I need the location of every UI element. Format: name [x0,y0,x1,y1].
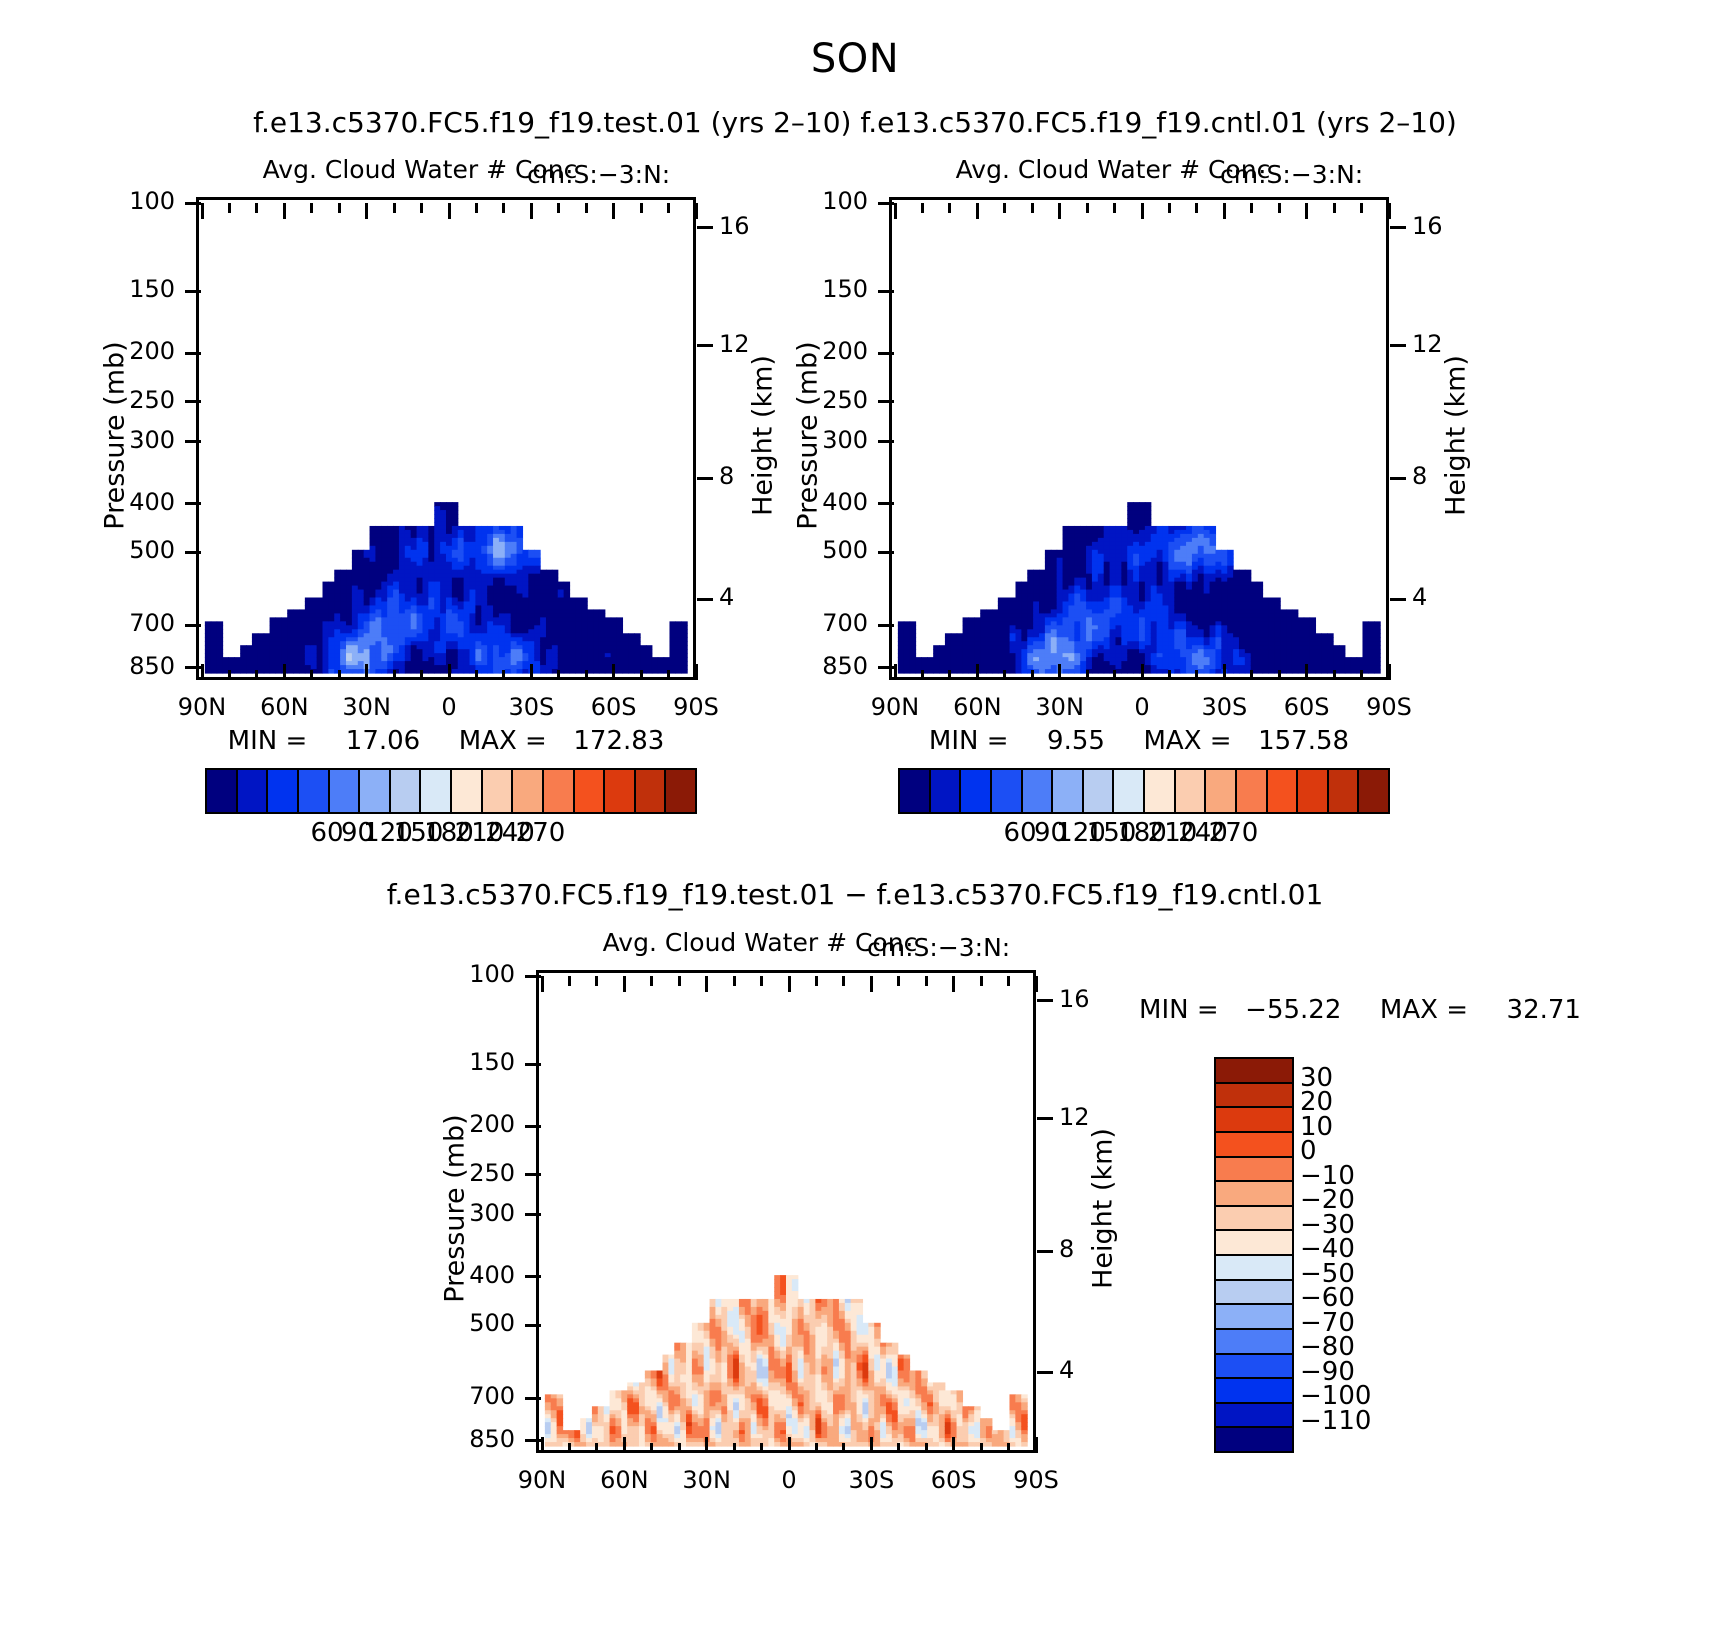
colorbar-swatch[interactable] [1216,1330,1292,1355]
y-tick-mark [525,1213,541,1216]
x-tick-mark [595,976,598,986]
colorbar-swatch[interactable] [1216,1404,1292,1429]
panel-units-cntl: cm:S:−3:N: [1220,160,1363,189]
colorbar-swatch[interactable] [238,770,269,812]
x-tick-mark [1305,664,1308,680]
colorbar-swatch[interactable] [1084,770,1115,812]
y-tick-label: 400 [79,488,175,516]
panel-units-diff: cm:S:−3:N: [867,933,1010,962]
y-tick-mark [185,202,201,205]
y-tick-mark [525,1324,541,1327]
x-tick-mark [201,203,204,219]
colorbar-swatch[interactable] [1114,770,1145,812]
x-tick-mark [948,670,951,680]
y-tick-label: 400 [419,1261,515,1289]
x-tick-mark [448,664,451,680]
y-tick-mark [878,400,894,403]
x-tick-mark [1388,203,1391,219]
y-tick-label: 500 [419,1309,515,1337]
x-tick-mark [1360,670,1363,680]
y-tick-label: 150 [79,275,175,303]
plot-area-cntl [889,197,1389,680]
y-tick-mark [878,502,894,505]
x-tick-mark [1333,203,1336,213]
max-label-cntl: MAX = [1143,726,1231,756]
y-tick-label: 850 [772,652,868,680]
y-tick-label: 200 [772,337,868,365]
x-tick-mark [788,976,791,992]
y2-tick-mark [1037,1117,1053,1120]
y-tick-mark [525,1397,541,1400]
x-tick-mark [952,1437,955,1453]
y2-tick-mark [1037,1250,1053,1253]
y2-tick-label: 4 [719,583,779,611]
plot-area-diff [536,970,1036,1453]
y-tick-label: 700 [419,1382,515,1410]
x-tick-mark [842,976,845,986]
colorbar-tick-label: −110 [1300,1406,1390,1436]
y-tick-mark [185,290,201,293]
y-tick-label: 700 [772,609,868,637]
x-tick-mark [338,670,341,680]
colorbar-swatch[interactable] [1053,770,1084,812]
x-tick-mark [1141,203,1144,219]
colorbar-tick-label: 270 [491,818,591,848]
x-tick-mark [310,203,313,213]
x-tick-mark [705,976,708,992]
x-tick-mark [502,203,505,213]
x-tick-mark [1113,670,1116,680]
x-tick-mark [705,1437,708,1453]
x-tick-label: 90S [986,1466,1086,1494]
x-tick-mark [1195,203,1198,213]
y-tick-mark [185,551,201,554]
max-label-diff: MAX = [1380,995,1468,1025]
x-tick-mark [201,664,204,680]
y-tick-label: 300 [79,426,175,454]
min-label-cntl: MIN = [929,726,1009,756]
colorbar-swatch[interactable] [452,770,483,812]
colorbar-cntl[interactable] [898,768,1390,814]
x-tick-mark [1250,670,1253,680]
x-tick-mark [980,976,983,986]
y2-tick-mark [697,344,713,347]
y-tick-label: 500 [772,536,868,564]
x-tick-mark [1035,976,1038,992]
x-tick-mark [338,203,341,213]
x-tick-mark [788,1437,791,1453]
x-tick-mark [255,670,258,680]
panel-units-test: cm:S:−3:N: [527,160,670,189]
x-tick-mark [420,203,423,213]
x-tick-mark [921,670,924,680]
x-tick-mark [1007,976,1010,986]
x-tick-mark [541,976,544,992]
diff-case-line: f.e13.c5370.FC5.f19_f19.test.01 − f.e13.… [0,878,1710,911]
minmax-test: MIN = 17.06 MAX = 172.83 [196,726,696,756]
x-tick-mark [1031,670,1034,680]
x-tick-mark [475,203,478,213]
y-tick-mark [185,502,201,505]
x-tick-mark [475,670,478,680]
colorbar-swatch[interactable] [483,770,514,812]
y2-tick-label: 12 [1412,330,1472,358]
x-tick-mark [1031,203,1034,213]
contour-field-cntl [892,200,1386,677]
x-tick-label: 90S [1339,693,1439,721]
x-tick-mark [925,976,928,986]
y-tick-label: 300 [772,426,868,454]
y-tick-label: 100 [419,960,515,988]
colorbar-swatch[interactable] [513,770,544,812]
colorbar-swatch[interactable] [1216,1182,1292,1207]
y-tick-label: 100 [79,187,175,215]
min-label-diff: MIN = [1139,995,1219,1025]
y2-tick-label: 4 [1412,583,1472,611]
colorbar-swatch[interactable] [1216,1158,1292,1183]
y-tick-mark [878,290,894,293]
x-tick-mark [894,664,897,680]
colorbar-swatch[interactable] [330,770,361,812]
colorbar-swatch[interactable] [360,770,391,812]
x-tick-mark [1305,203,1308,219]
y-tick-mark [525,1063,541,1066]
x-tick-mark [1168,203,1171,213]
x-tick-mark [530,664,533,680]
x-tick-mark [1035,1437,1038,1453]
x-tick-mark [1250,203,1253,213]
x-tick-mark [733,1443,736,1453]
colorbar-swatch[interactable] [1216,1207,1292,1232]
x-tick-mark [1195,670,1198,680]
min-value-cntl: 9.55 [1047,726,1105,756]
x-tick-mark [557,203,560,213]
x-tick-mark [695,664,698,680]
y-tick-mark [185,624,201,627]
colorbar-diff[interactable] [1214,1057,1294,1453]
x-tick-mark [623,976,626,992]
colorbar-swatch[interactable] [1216,1231,1292,1256]
x-tick-mark [568,1443,571,1453]
y-tick-label: 400 [772,488,868,516]
colorbar-swatch[interactable] [1216,1059,1292,1084]
y-tick-mark [185,400,201,403]
y-tick-mark [185,440,201,443]
x-tick-mark [760,976,763,986]
x-tick-mark [980,1443,983,1453]
x-tick-mark [310,670,313,680]
y-tick-mark [878,624,894,627]
y-tick-mark [525,1439,541,1442]
x-tick-mark [640,670,643,680]
x-tick-mark [925,1443,928,1453]
x-tick-mark [952,976,955,992]
x-tick-mark [760,1443,763,1453]
y-tick-label: 250 [772,386,868,414]
y-tick-label: 700 [79,609,175,637]
y-tick-label: 100 [772,187,868,215]
x-tick-mark [1086,670,1089,680]
x-tick-mark [1058,203,1061,219]
colorbar-swatch[interactable] [1216,1355,1292,1380]
x-tick-mark [976,203,979,219]
y2-tick-mark [1390,477,1406,480]
x-tick-mark [815,1443,818,1453]
x-tick-mark [815,976,818,986]
colorbar-swatch[interactable] [1023,770,1054,812]
y2-tick-mark [1037,1371,1053,1374]
colorbar-swatch[interactable] [268,770,299,812]
x-tick-mark [667,203,670,213]
x-tick-mark [1278,203,1281,213]
y-tick-label: 200 [79,337,175,365]
colorbar-swatch[interactable] [1216,1305,1292,1330]
colorbar-swatch[interactable] [544,770,575,812]
y-tick-mark [185,352,201,355]
y-tick-label: 250 [79,386,175,414]
x-tick-mark [557,670,560,680]
colorbar-swatch[interactable] [992,770,1023,812]
x-tick-mark [948,203,951,213]
colorbar-swatch[interactable] [1216,1281,1292,1306]
colorbar-swatch[interactable] [1216,1084,1292,1109]
colorbar-swatch[interactable] [636,770,667,812]
x-tick-mark [585,203,588,213]
y-tick-mark [878,352,894,355]
x-tick-mark [842,1443,845,1453]
contour-field-diff [539,973,1033,1450]
max-value-cntl: 157.58 [1258,726,1349,756]
x-tick-mark [255,203,258,213]
x-tick-mark [1003,203,1006,213]
y-tick-label: 150 [419,1048,515,1076]
y-tick-mark [878,202,894,205]
x-tick-mark [921,203,924,213]
x-tick-mark [678,976,681,986]
minmax-diff: MIN = −55.22 MAX = 32.71 [1080,995,1640,1025]
y2-tick-mark [1037,999,1053,1002]
colorbar-swatch[interactable] [1145,770,1176,812]
y2-tick-mark [1390,226,1406,229]
y2-tick-label: 8 [1412,462,1472,490]
x-tick-mark [1223,203,1226,219]
colorbar-swatch[interactable] [207,770,238,812]
x-tick-mark [502,670,505,680]
colorbar-swatch[interactable] [900,770,931,812]
x-tick-mark [365,203,368,219]
x-tick-mark [640,203,643,213]
colorbar-swatch[interactable] [299,770,330,812]
colorbar-swatch[interactable] [421,770,452,812]
x-tick-mark [393,203,396,213]
y2-tick-label: 8 [1059,1235,1119,1263]
y2-tick-label: 16 [719,212,779,240]
colorbar-swatch[interactable] [1298,770,1329,812]
y-tick-mark [185,666,201,669]
y2-tick-mark [1390,344,1406,347]
y-tick-label: 200 [419,1110,515,1138]
y-tick-label: 850 [79,652,175,680]
y-tick-mark [878,551,894,554]
colorbar-swatch[interactable] [391,770,422,812]
y-tick-mark [525,1125,541,1128]
x-tick-mark [228,203,231,213]
x-tick-mark [678,1443,681,1453]
x-tick-mark [897,976,900,986]
colorbar-swatch[interactable] [575,770,606,812]
colorbar-swatch[interactable] [666,770,695,812]
x-tick-mark [585,670,588,680]
colorbar-swatch[interactable] [961,770,992,812]
x-tick-mark [870,1437,873,1453]
colorbar-swatch[interactable] [605,770,636,812]
min-value-test: 17.06 [346,726,420,756]
y2-tick-mark [697,477,713,480]
colorbar-swatch[interactable] [1216,1108,1292,1133]
y2-tick-mark [1390,598,1406,601]
x-tick-mark [733,976,736,986]
x-tick-label: 90S [646,693,746,721]
season-title: SON [0,36,1710,82]
x-tick-mark [1388,664,1391,680]
y-tick-mark [878,440,894,443]
x-tick-mark [530,203,533,219]
min-label-test: MIN = [228,726,308,756]
colorbar-test[interactable] [205,768,697,814]
x-tick-mark [1223,664,1226,680]
colorbar-swatch[interactable] [1176,770,1207,812]
colorbar-swatch[interactable] [1216,1256,1292,1281]
max-value-diff: 32.71 [1507,995,1581,1025]
x-tick-mark [612,664,615,680]
colorbar-swatch[interactable] [931,770,962,812]
colorbar-swatch[interactable] [1206,770,1237,812]
x-tick-mark [541,1437,544,1453]
y-tick-mark [525,1173,541,1176]
y-tick-mark [525,1275,541,1278]
colorbar-swatch[interactable] [1329,770,1360,812]
x-tick-mark [650,976,653,986]
case-names-line: f.e13.c5370.FC5.f19_f19.test.01 (yrs 2–1… [0,106,1710,139]
colorbar-swatch[interactable] [1268,770,1299,812]
colorbar-swatch[interactable] [1216,1379,1292,1404]
x-tick-mark [894,203,897,219]
x-tick-mark [1168,670,1171,680]
x-tick-mark [1360,203,1363,213]
min-value-diff: −55.22 [1245,995,1341,1025]
x-tick-mark [623,1437,626,1453]
colorbar-swatch[interactable] [1359,770,1388,812]
y2-tick-label: 12 [1059,1103,1119,1131]
plot-area-test [196,197,696,680]
y-tick-mark [525,975,541,978]
x-tick-mark [1003,670,1006,680]
y-tick-mark [878,666,894,669]
x-tick-mark [448,203,451,219]
colorbar-swatch[interactable] [1216,1428,1292,1451]
x-tick-mark [695,203,698,219]
x-tick-mark [393,670,396,680]
y-tick-label: 150 [772,275,868,303]
y2-tick-mark [697,598,713,601]
x-tick-mark [1113,203,1116,213]
x-tick-mark [228,670,231,680]
x-tick-mark [1278,670,1281,680]
x-tick-mark [283,203,286,219]
y-tick-label: 850 [419,1425,515,1453]
x-tick-mark [1086,203,1089,213]
max-label-test: MAX = [459,726,547,756]
x-tick-mark [976,664,979,680]
y2-tick-label: 8 [719,462,779,490]
x-tick-mark [568,976,571,986]
y2-tick-label: 12 [719,330,779,358]
y2-tick-mark [697,226,713,229]
colorbar-tick-label: 270 [1184,818,1284,848]
y-tick-label: 300 [419,1199,515,1227]
y2-tick-label: 16 [1412,212,1472,240]
x-tick-mark [650,1443,653,1453]
x-tick-mark [420,670,423,680]
x-tick-mark [897,1443,900,1453]
colorbar-swatch[interactable] [1237,770,1268,812]
x-tick-mark [612,203,615,219]
y2-tick-label: 4 [1059,1356,1119,1384]
x-tick-mark [870,976,873,992]
x-tick-mark [1058,664,1061,680]
colorbar-swatch[interactable] [1216,1133,1292,1158]
x-tick-mark [1141,664,1144,680]
x-tick-mark [1007,1443,1010,1453]
x-tick-mark [667,670,670,680]
x-tick-mark [283,664,286,680]
y-tick-label: 500 [79,536,175,564]
max-value-test: 172.83 [573,726,664,756]
contour-field-test [199,200,693,677]
x-tick-mark [365,664,368,680]
x-tick-mark [1333,670,1336,680]
y-tick-label: 250 [419,1159,515,1187]
x-tick-mark [595,1443,598,1453]
minmax-cntl: MIN = 9.55 MAX = 157.58 [889,726,1389,756]
